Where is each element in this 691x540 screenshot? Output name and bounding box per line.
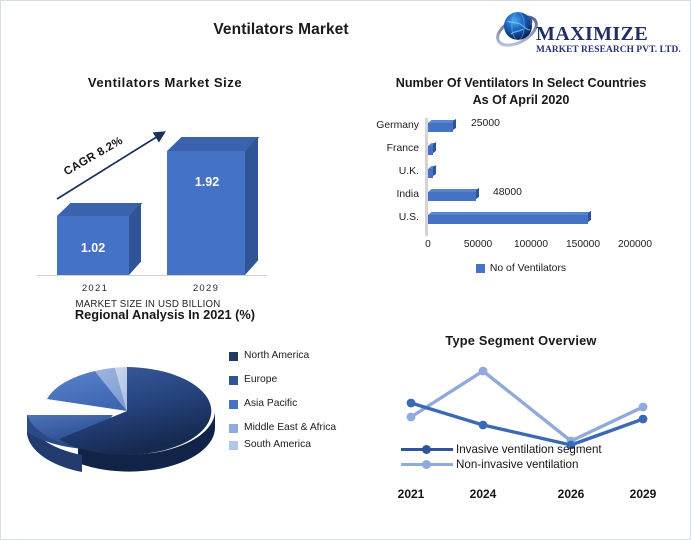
type-segment-x-axis: 2021 2024 2026 2029: [353, 487, 689, 505]
bar-label-uk: U.K.: [353, 166, 419, 177]
xtick-100000: 100000: [503, 239, 559, 250]
legend-label-non-invasive: Non-invasive ventilation: [456, 458, 578, 471]
bar-india: [428, 192, 476, 201]
infographic-page: Ventilators Market: [0, 0, 691, 540]
legend-item-europe: Europe: [229, 373, 345, 386]
legend-label-ventilators: No of Ventilators: [490, 263, 566, 274]
regional-title: Regional Analysis In 2021 (%): [15, 307, 315, 322]
legend-item-asia-pacific: Asia Pacific: [229, 397, 345, 410]
type-segment-chart: Type Segment Overview Invasive ventilati…: [353, 327, 689, 537]
bar-2029-side: [245, 137, 258, 275]
countries-title-line2: As Of April 2020: [353, 92, 689, 109]
bar-row-india: India 48000: [353, 186, 689, 207]
bar-us: [428, 215, 588, 224]
legend-label-south-america: South America: [244, 438, 311, 451]
point-invasive-2021: [407, 399, 416, 408]
legend-label-europe: Europe: [244, 373, 277, 386]
bar-germany: [428, 123, 453, 132]
legend-label-north-america: North America: [244, 349, 309, 362]
legend-swatch-ventilators: [476, 264, 485, 273]
cagr-label: CAGR 8.2%: [62, 135, 125, 178]
xlabel-2026: 2026: [541, 487, 601, 501]
logo-name: MAXIMIZE: [536, 25, 686, 44]
xtick-150000: 150000: [555, 239, 611, 250]
bar-row-france: France: [353, 140, 689, 161]
xtick-200000: 200000: [607, 239, 663, 250]
countries-x-axis: 0 50000 100000 150000 200000: [353, 239, 689, 255]
bar-2029-front: [167, 151, 245, 275]
point-invasive-2029: [639, 415, 648, 424]
bar-2021-value: 1.02: [51, 241, 135, 255]
header: Ventilators Market: [1, 1, 691, 63]
regional-pie: [23, 343, 223, 483]
legend-item-north-america: North America: [229, 349, 345, 362]
legend-swatch-asia-pacific: [229, 400, 238, 409]
bar-2029: 1.92: [167, 137, 259, 275]
page-title: Ventilators Market: [1, 21, 561, 39]
legend-marker-invasive: [422, 445, 431, 454]
legend-label-middle-east-africa: Middle East & Africa: [244, 421, 336, 434]
bar-label-india: India: [353, 189, 419, 200]
market-size-title: Ventilators Market Size: [15, 75, 315, 90]
logo-subtitle: MARKET RESEARCH PVT. LTD.: [536, 45, 686, 56]
xtick-50000: 50000: [453, 239, 503, 250]
legend-swatch-north-america: [229, 352, 238, 361]
xlabel-2029: 2029: [613, 487, 673, 501]
bar-value-india: 48000: [493, 187, 522, 198]
bar-value-germany: 25000: [471, 118, 500, 129]
market-size-plot: CAGR 8.2% 1.02 1.92 2021 2029 MARKET SIZ…: [15, 103, 345, 283]
point-non-invasive-2021: [407, 413, 416, 422]
legend-marker-non-invasive: [422, 460, 431, 469]
market-size-baseline: [37, 275, 267, 276]
point-non-invasive-2029: [639, 403, 648, 412]
xlabel-2021: 2021: [381, 487, 441, 501]
regional-analysis-chart: Regional Analysis In 2021 (%): [15, 301, 345, 537]
countries-legend: No of Ventilators: [353, 263, 689, 274]
countries-plot: Germany 25000 France U.K. India 48000 U.…: [353, 115, 689, 265]
legend-item-middle-east-africa: Middle East & Africa: [229, 421, 345, 434]
bar-row-germany: Germany 25000: [353, 117, 689, 138]
xtick-0: 0: [413, 239, 443, 250]
legend-line-non-invasive: [401, 463, 453, 466]
bar-label-france: France: [353, 143, 419, 154]
logo-wordmark: MAXIMIZE MARKET RESEARCH PVT. LTD.: [536, 25, 686, 56]
market-size-chart: Ventilators Market Size CAGR 8.2% 1.02: [15, 67, 345, 282]
legend-line-invasive: [401, 448, 453, 451]
ventilators-by-country-chart: Number Of Ventilators In Select Countrie…: [353, 67, 689, 305]
category-label-2021: 2021: [55, 283, 135, 294]
regional-legend: North America Europe Asia Pacific Middle…: [229, 349, 345, 462]
company-logo: MAXIMIZE MARKET RESEARCH PVT. LTD.: [490, 7, 686, 59]
legend-swatch-europe: [229, 376, 238, 385]
bar-label-germany: Germany: [353, 120, 419, 131]
countries-title: Number Of Ventilators In Select Countrie…: [353, 75, 689, 109]
bar-uk: [428, 169, 433, 178]
bar-2029-value: 1.92: [161, 175, 253, 189]
point-non-invasive-2024: [479, 367, 488, 376]
legend-label-invasive: Invasive ventilation segment: [456, 443, 602, 456]
bar-france: [428, 146, 433, 155]
point-invasive-2024: [479, 421, 488, 430]
countries-title-line1: Number Of Ventilators In Select Countrie…: [353, 75, 689, 92]
xlabel-2024: 2024: [453, 487, 513, 501]
legend-swatch-middle-east-africa: [229, 424, 238, 433]
legend-item-invasive: Invasive ventilation segment: [401, 443, 681, 456]
category-label-2029: 2029: [165, 283, 247, 294]
type-segment-title: Type Segment Overview: [353, 333, 689, 348]
legend-item-non-invasive: Non-invasive ventilation: [401, 458, 681, 471]
type-segment-legend: Invasive ventilation segment Non-invasiv…: [401, 443, 681, 473]
bar-2021-side: [129, 203, 141, 275]
bar-row-us: U.S.: [353, 209, 689, 230]
legend-item-south-america: South America: [229, 438, 345, 451]
legend-swatch-south-america: [229, 441, 238, 450]
bar-label-us: U.S.: [353, 212, 419, 223]
bar-2021: 1.02: [57, 203, 141, 275]
legend-label-asia-pacific: Asia Pacific: [244, 397, 297, 410]
bar-row-uk: U.K.: [353, 163, 689, 184]
